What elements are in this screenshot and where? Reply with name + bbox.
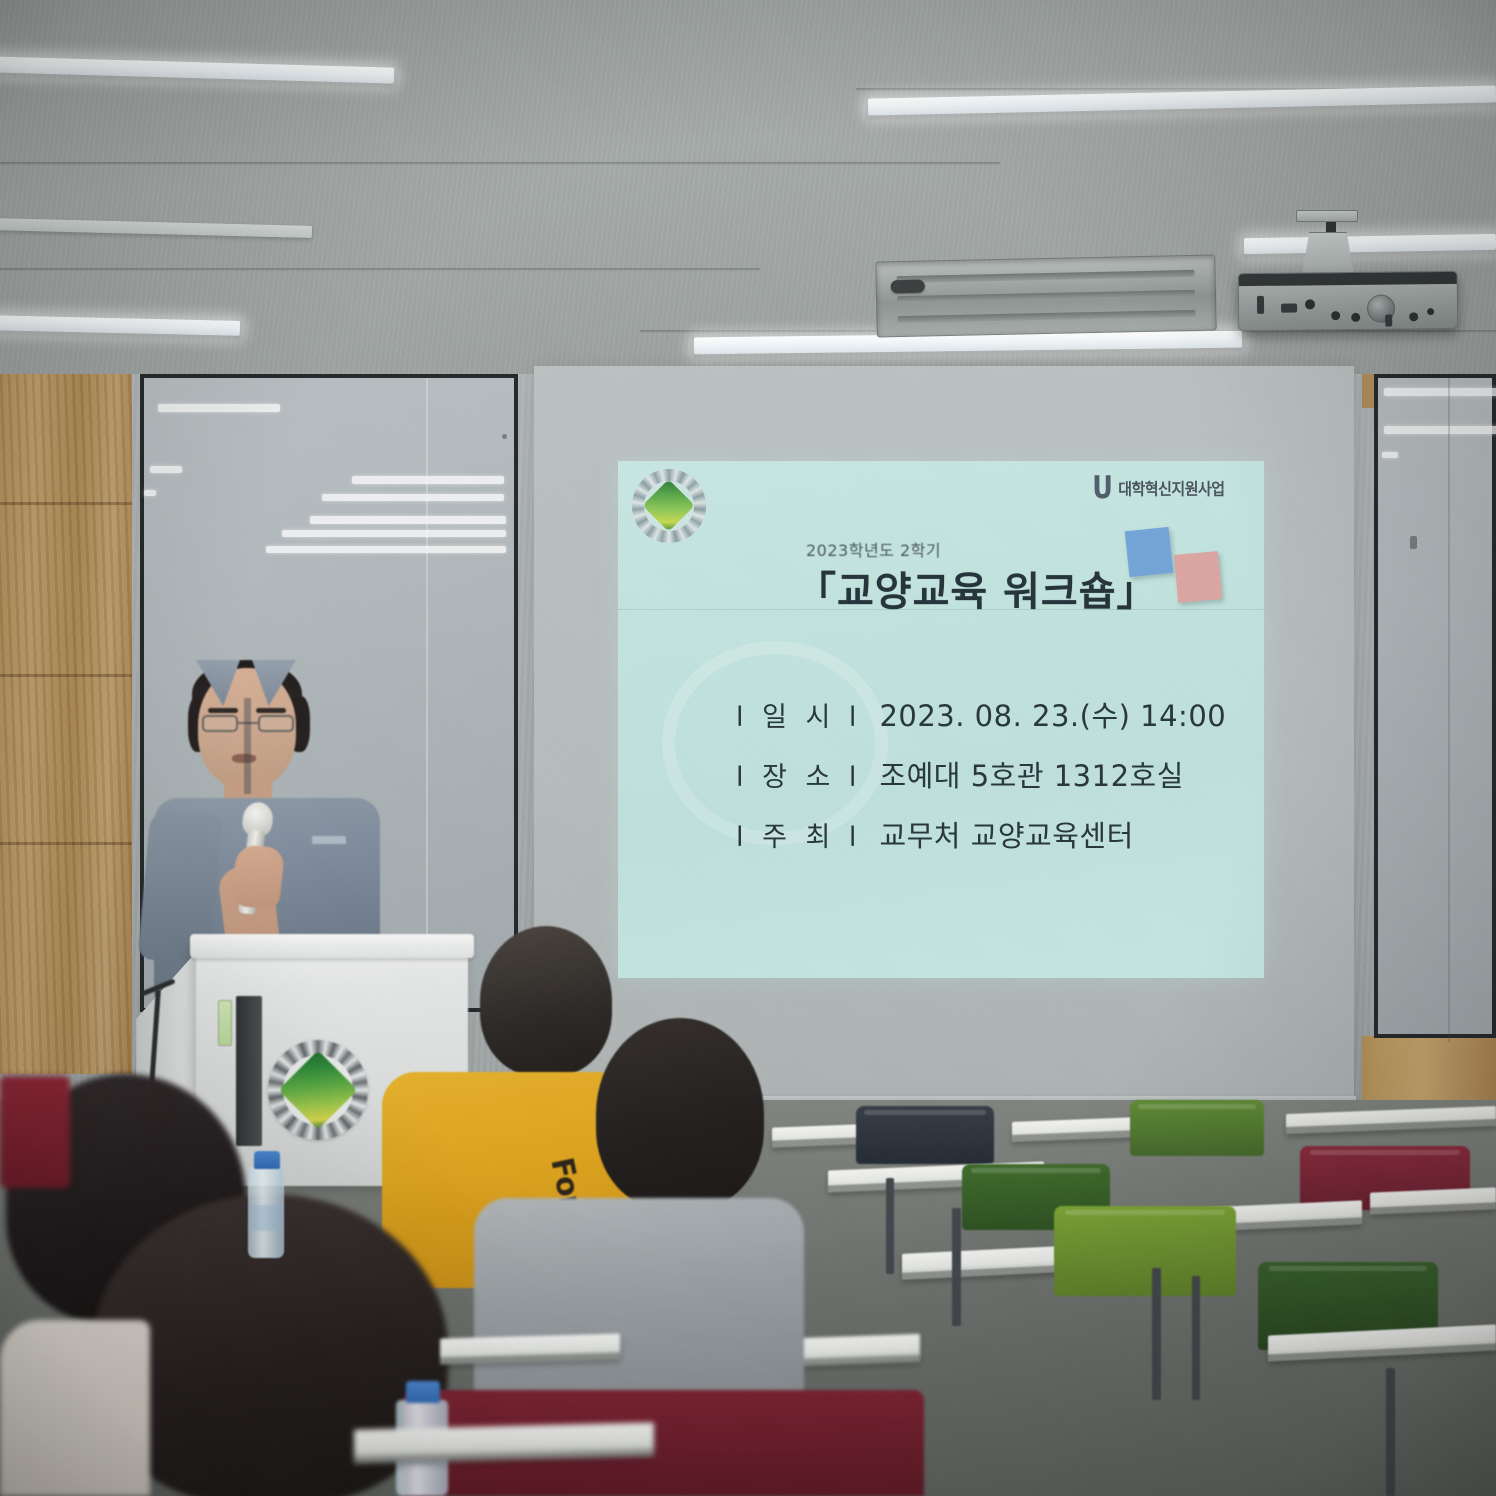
ceiling-seam xyxy=(0,162,1000,165)
presenter-at-podium xyxy=(140,660,410,980)
podium-top-edge xyxy=(190,934,474,958)
wall-whiteboard-panel-right xyxy=(1374,374,1496,1038)
audience-member-gray-top-head xyxy=(596,1018,764,1210)
audience-member-foreground-shoulder xyxy=(0,1320,150,1496)
daegu-university-podium-emblem xyxy=(268,1040,368,1140)
slide-info-row-place: l 장 소 l 조예대 5호관 1312호실 xyxy=(736,753,1184,795)
classroom-chair-green xyxy=(1130,1100,1264,1156)
ceiling-seam xyxy=(0,268,760,271)
daegu-university-emblem xyxy=(632,469,706,543)
classroom-chair-maroon xyxy=(0,1076,70,1188)
slide-info-value-host: 교무처 교양교육센터 xyxy=(879,813,1133,855)
wood-wall-panel xyxy=(0,374,132,1074)
lecture-hall-photo: U 대학혁신지원사업 2023학년도 2학기 「교양교육 워크숍」 l 일 시 … xyxy=(0,0,1496,1496)
slide-info-row-host: l 주 최 l 교무처 교양교육센터 xyxy=(736,813,1134,855)
audience-member-yellow-shirt-head xyxy=(480,926,612,1076)
slide-info-label-host: l 주 최 l xyxy=(736,815,861,854)
slide-info-value-place: 조예대 5호관 1312호실 xyxy=(879,753,1183,795)
ceiling-projector xyxy=(1238,271,1459,331)
pink-square-decoration xyxy=(1174,551,1222,603)
desk-leg xyxy=(1152,1268,1161,1400)
desk-leg xyxy=(1386,1368,1395,1496)
desk-leg xyxy=(886,1178,894,1274)
slide-info-label-date: l 일 시 l xyxy=(736,695,861,734)
slide-subtitle: 2023학년도 2학기 xyxy=(806,537,941,561)
innovation-logo-text: 대학혁신지원사업 xyxy=(1118,477,1224,499)
ceiling-air-vent xyxy=(875,254,1217,337)
slide-title: 「교양교육 워크숍」 xyxy=(796,559,1158,617)
slide-info-value-date: 2023. 08. 23.(수) 14:00 xyxy=(879,693,1226,735)
presenter-eyebrow xyxy=(256,708,286,713)
classroom-chair-navy xyxy=(856,1106,994,1164)
podium-indicator-lights xyxy=(218,1000,232,1046)
innovation-u-mark: U xyxy=(1092,473,1113,504)
classroom-desk xyxy=(440,1333,620,1364)
presentation-slide: U 대학혁신지원사업 2023학년도 2학기 「교양교육 워크숍」 l 일 시 … xyxy=(618,461,1264,978)
projector-ceiling-plate xyxy=(1296,210,1358,222)
water-bottle xyxy=(248,1166,284,1258)
slide-info-label-place: l 장 소 l xyxy=(736,755,861,794)
innovation-project-logo: U 대학혁신지원사업 xyxy=(1090,473,1225,504)
slide-info-row-date: l 일 시 l 2023. 08. 23.(수) 14:00 xyxy=(736,693,1226,735)
presenter-shirt-logo xyxy=(312,836,346,844)
presenter-eyebrow xyxy=(208,708,238,713)
classroom-chair-green-light xyxy=(1054,1206,1236,1296)
presenter-shirt-placket xyxy=(244,698,251,794)
desk-leg xyxy=(1192,1276,1200,1400)
presenter-hand xyxy=(231,844,285,911)
desk-leg xyxy=(952,1208,961,1326)
podium-equipment-slot xyxy=(236,996,262,1146)
projector-bracket xyxy=(1302,232,1354,276)
